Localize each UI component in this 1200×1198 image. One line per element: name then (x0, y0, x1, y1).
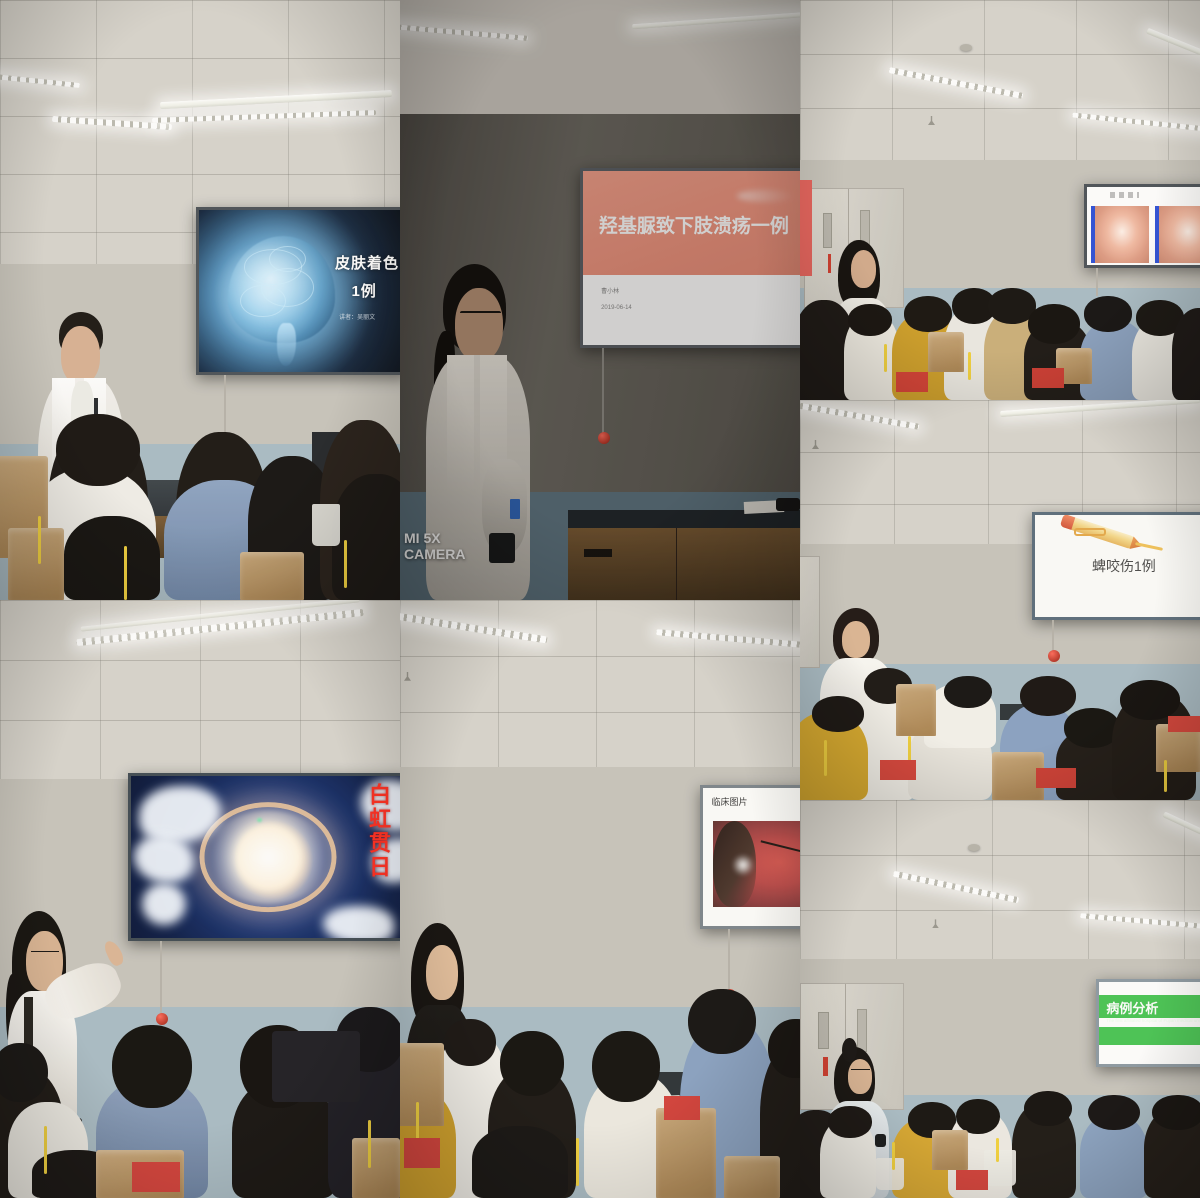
presentation-screen: 临床图片 (700, 785, 800, 929)
audience-head (112, 1025, 192, 1109)
screen-cable (160, 941, 162, 1019)
presentation-screen (1084, 184, 1200, 268)
audience-head (848, 304, 892, 336)
lunch-bag (656, 1108, 716, 1198)
audience-head (500, 1031, 564, 1097)
slide-subtitle: 1例 (351, 280, 376, 301)
slide-title: 病例分析 (1106, 998, 1158, 1017)
audience-head (1088, 1095, 1140, 1131)
food-box (404, 1138, 440, 1168)
presentation-clicker[interactable] (875, 1134, 886, 1146)
drink-cup (312, 504, 340, 546)
glasses-icon (851, 1069, 870, 1075)
audience-head (1152, 1095, 1200, 1131)
slide-salmon-title: 羟基脲致下肢溃疡一例 曹小林 2019-06-14 (583, 171, 800, 345)
food-box (132, 1162, 180, 1192)
food-box (956, 1170, 988, 1190)
audience-head (956, 1099, 1000, 1135)
food-box (664, 1096, 700, 1120)
slide-dual-photo (1087, 187, 1200, 265)
panel-bottom-right: 病例分析 The first affiliated hospital of Fu… (800, 800, 1200, 1198)
slide-byline: 讲者：吴丽文 (339, 312, 375, 321)
audience-head (444, 1019, 496, 1067)
wall-knob (156, 1013, 168, 1025)
slide-clinical-picture: 临床图片 (703, 788, 800, 926)
presentation-screen: 蜱咬伤1例 (1032, 512, 1200, 620)
slide-subtitle: The first affiliated hospital of Fujian … (1106, 1018, 1200, 1023)
presentation-screen: 皮肤着色 1例 讲者：吴丽文 (196, 207, 400, 375)
audience-head (812, 696, 864, 732)
audience-head (1024, 1091, 1072, 1127)
panel-middle-right: 蜱咬伤1例 (800, 400, 1200, 800)
camera-watermark: MI 5X CAMERA (404, 531, 465, 562)
head (851, 250, 877, 288)
screen-cable (1052, 620, 1054, 652)
food-box (1168, 716, 1200, 732)
head (455, 288, 503, 362)
slide-green-analysis: 病例分析 The first affiliated hospital of Fu… (1099, 982, 1200, 1064)
audience-member (64, 516, 160, 600)
audience-head (688, 989, 756, 1055)
lunch-bag (8, 528, 64, 600)
presentation-screen: 白虹贯日 (128, 773, 400, 940)
panel-bottom-left: 白虹贯日 (0, 600, 400, 1198)
lunch-bag (400, 1043, 444, 1127)
audience-member (472, 1126, 568, 1198)
glasses-icon (31, 951, 59, 962)
watermark-line2: CAMERA (404, 547, 465, 563)
panel-top-left: 皮肤着色 1例 讲者：吴丽文 (0, 0, 400, 600)
badge (510, 499, 520, 519)
lunch-bag (896, 684, 936, 736)
slide-title: 临床图片 (712, 795, 748, 808)
slide-title: 蜱咬伤1例 (1092, 556, 1156, 576)
audience-head (904, 296, 952, 332)
drink-cup (876, 1158, 904, 1190)
lunch-bag (932, 1130, 968, 1170)
remote (776, 498, 800, 511)
audience-head (944, 676, 992, 708)
audience-head (592, 1031, 660, 1103)
wall-knob (1048, 650, 1060, 662)
slide-presenter: 曹小林 (601, 286, 619, 295)
drink-cup (984, 1150, 1016, 1186)
panel-top-right (800, 0, 1200, 400)
panel-top-middle: 羟基脲致下肢溃疡一例 曹小林 2019-06-14 (400, 0, 800, 600)
audience-member (332, 474, 400, 600)
head (842, 621, 870, 658)
audience-head (1120, 680, 1180, 720)
screen-cable (1096, 268, 1098, 296)
patterned-bag (272, 1031, 360, 1103)
audience-head (1084, 296, 1132, 332)
screen-cable (602, 348, 604, 438)
lunch-bag (724, 1156, 780, 1198)
audience-head (1020, 676, 1076, 716)
photo-collage: 皮肤着色 1例 讲者：吴丽文 (0, 0, 1200, 1198)
food-box (1032, 368, 1064, 388)
wall-notice (800, 180, 812, 276)
cabinet (568, 528, 800, 600)
slide-title: 羟基脲致下肢溃疡一例 (599, 211, 789, 238)
lunch-bag (352, 1138, 400, 1198)
audience-head (56, 414, 140, 486)
head (848, 1059, 873, 1094)
panel-bottom-middle: 临床图片 (400, 600, 800, 1198)
presentation-screen: 病例分析 The first affiliated hospital of Fu… (1096, 979, 1200, 1067)
head (426, 945, 458, 1000)
food-box (896, 372, 928, 392)
watermark-line1: MI 5X (404, 531, 465, 547)
hair-bun (842, 1038, 857, 1062)
head (61, 326, 101, 384)
presentation-clicker[interactable] (489, 533, 515, 563)
slide-pencil-title: 蜱咬伤1例 (1035, 515, 1200, 617)
lunch-bag (240, 552, 304, 600)
presentation-screen: 羟基脲致下肢溃疡一例 曹小林 2019-06-14 (580, 168, 800, 348)
slide-title: 皮肤着色 (335, 252, 399, 273)
audience-head (828, 1106, 872, 1138)
wall-knob (598, 432, 610, 444)
cabinet-divider (676, 528, 677, 600)
audience-head (1028, 304, 1080, 344)
slide-halo: 白虹贯日 (131, 776, 400, 937)
door[interactable] (800, 556, 820, 668)
slide-brain: 皮肤着色 1例 讲者：吴丽文 (199, 210, 400, 372)
lunch-bag (928, 332, 964, 372)
cabinet-handle (584, 549, 612, 557)
slide-date: 2019-06-14 (601, 305, 632, 311)
food-box (1036, 768, 1076, 788)
slide-title: 白虹贯日 (362, 783, 394, 879)
food-box (880, 760, 916, 780)
glasses-icon (460, 311, 501, 324)
screen-cable (728, 929, 730, 995)
